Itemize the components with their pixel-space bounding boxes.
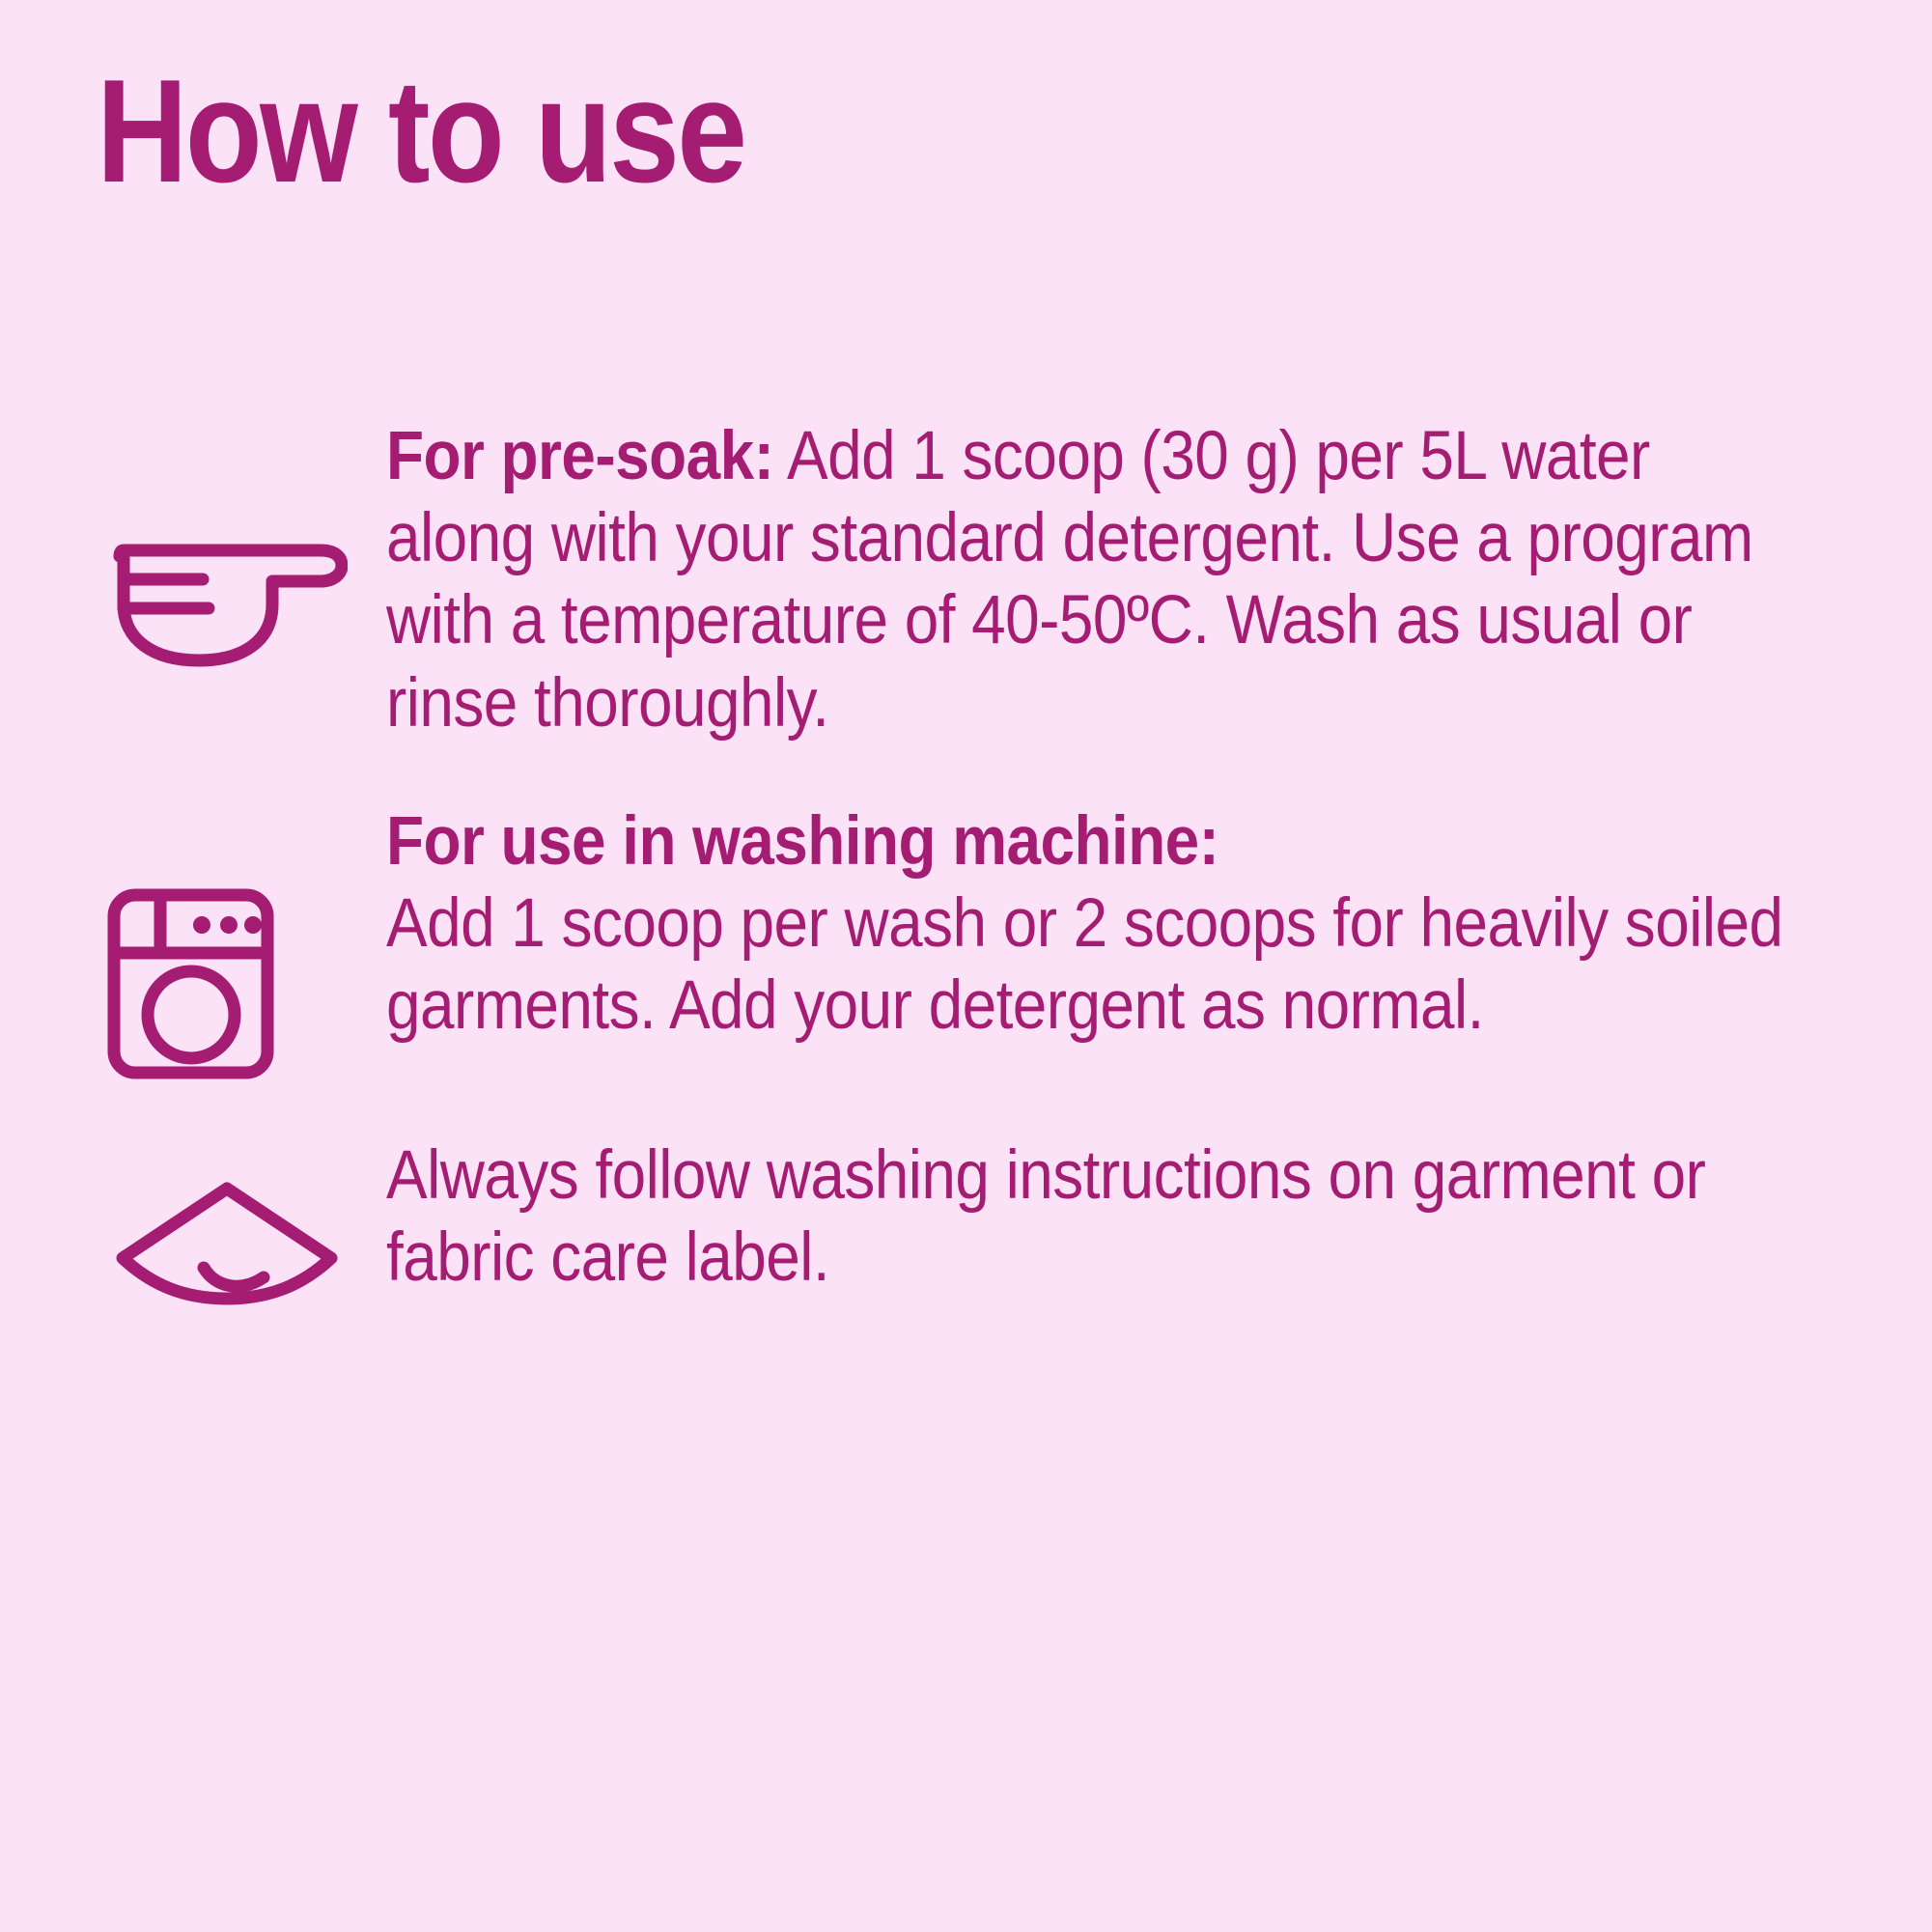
instruction-lead-pre-soak: For pre-soak: (386, 418, 773, 494)
fabric-care-label-icon (106, 1173, 348, 1308)
washing-machine-icon (106, 887, 275, 1080)
icon-cell (106, 1134, 386, 1308)
text-cell: Always follow washing instructions on ga… (386, 1134, 1932, 1299)
icon-cell (106, 415, 386, 674)
measuring-scoop-icon (106, 529, 348, 674)
text-cell: For use in washing machine:Add 1 scoop p… (386, 800, 1932, 1048)
instruction-list: For pre-soak: Add 1 scoop (30 g) per 5L … (0, 415, 1932, 1308)
instruction-text-pre-soak: For pre-soak: Add 1 scoop (30 g) per 5L … (386, 415, 1806, 744)
instruction-body-care-label: Always follow washing instructions on ga… (386, 1137, 1705, 1296)
icon-cell (106, 800, 386, 1080)
instruction-text-washing-machine: For use in washing machine:Add 1 scoop p… (386, 800, 1806, 1048)
page-title: How to use (97, 58, 744, 205)
instruction-row-washing-machine: For use in washing machine:Add 1 scoop p… (0, 800, 1932, 1080)
instruction-lead-washing-machine: For use in washing machine: (386, 803, 1218, 880)
instruction-row-pre-soak: For pre-soak: Add 1 scoop (30 g) per 5L … (0, 415, 1932, 744)
instruction-row-care-label: Always follow washing instructions on ga… (0, 1134, 1932, 1308)
instruction-text-care-label: Always follow washing instructions on ga… (386, 1134, 1806, 1299)
how-to-use-panel: How to use For pre-soak: Add 1 scoop (30… (0, 0, 1932, 1932)
text-cell: For pre-soak: Add 1 scoop (30 g) per 5L … (386, 415, 1932, 744)
instruction-body-washing-machine: Add 1 scoop per wash or 2 scoops for hea… (386, 885, 1783, 1044)
